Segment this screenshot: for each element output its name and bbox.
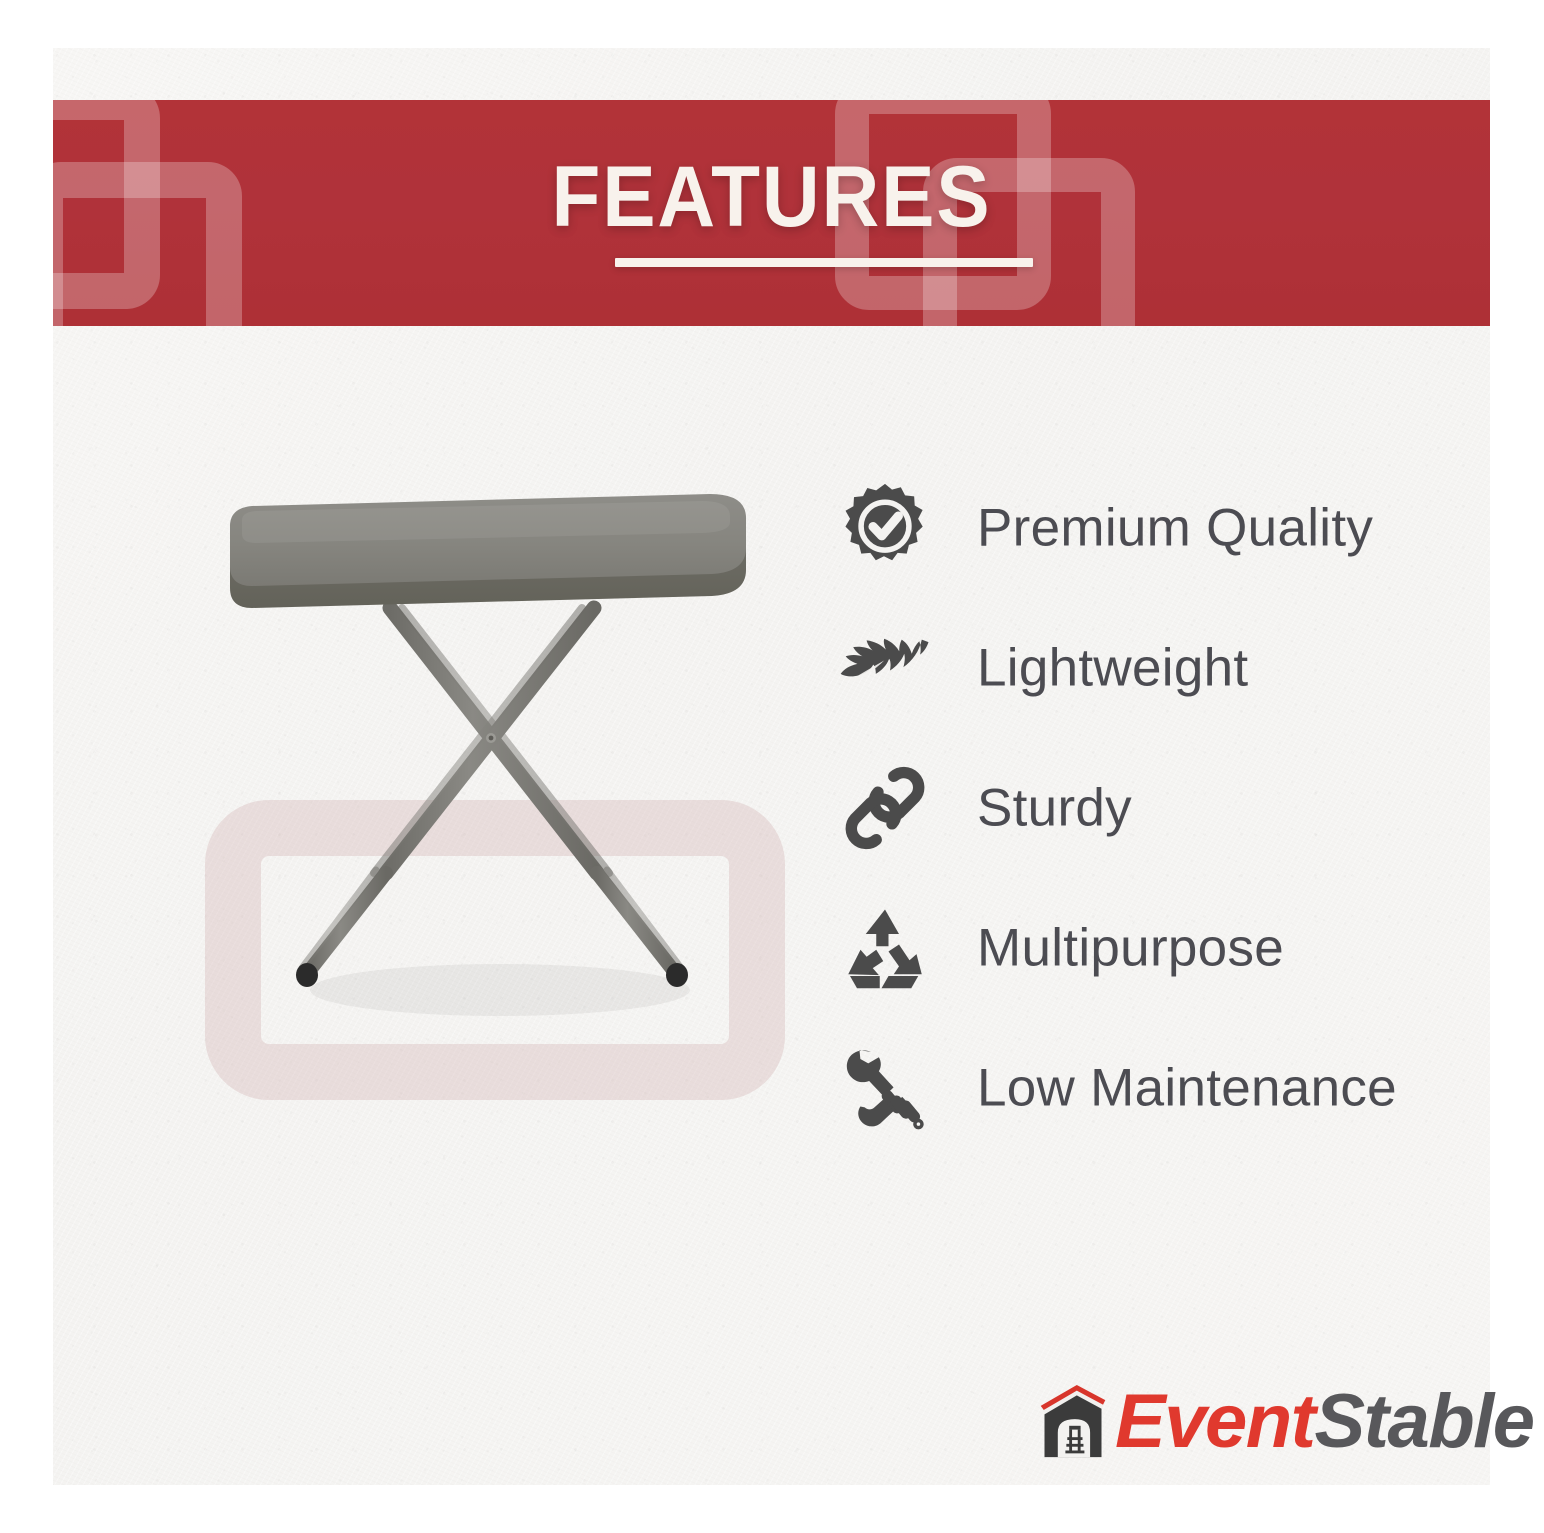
feature-item-sturdy[interactable]: Sturdy: [838, 738, 1458, 878]
feather-icon: [838, 621, 932, 715]
barn-stable-icon: [1035, 1383, 1111, 1461]
feature-label: Multipurpose: [977, 918, 1284, 979]
product-image: [190, 490, 810, 1120]
page-title: FEATURES: [103, 154, 1439, 240]
feature-label: Premium Quality: [977, 498, 1373, 559]
logo-wordmark: EventStable: [1115, 1384, 1534, 1460]
quality-badge-icon: [838, 481, 932, 575]
brand-logo[interactable]: EventStable: [1035, 1376, 1534, 1468]
features-header-banner: FEATURES: [53, 100, 1490, 326]
hand-wrench-icon: [838, 1041, 932, 1135]
poster-canvas: FEATURES: [0, 0, 1544, 1533]
feature-item-low-maintenance[interactable]: Low Maintenance: [838, 1018, 1458, 1158]
recycle-icon: [838, 901, 932, 995]
feature-label: Lightweight: [977, 638, 1248, 699]
title-underline: [615, 258, 1033, 267]
feature-label: Low Maintenance: [977, 1058, 1397, 1119]
feature-item-lightweight[interactable]: Lightweight: [838, 598, 1458, 738]
logo-text-event: Event: [1115, 1379, 1314, 1464]
chain-link-icon: [838, 761, 932, 855]
folding-table-illustration: [190, 490, 810, 1120]
logo-text-stable: Stable: [1314, 1379, 1533, 1464]
feature-item-premium-quality[interactable]: Premium Quality: [838, 458, 1458, 598]
feature-item-multipurpose[interactable]: Multipurpose: [838, 878, 1458, 1018]
features-list: Premium Quality Lightweight: [838, 458, 1458, 1158]
feature-label: Sturdy: [977, 778, 1132, 839]
